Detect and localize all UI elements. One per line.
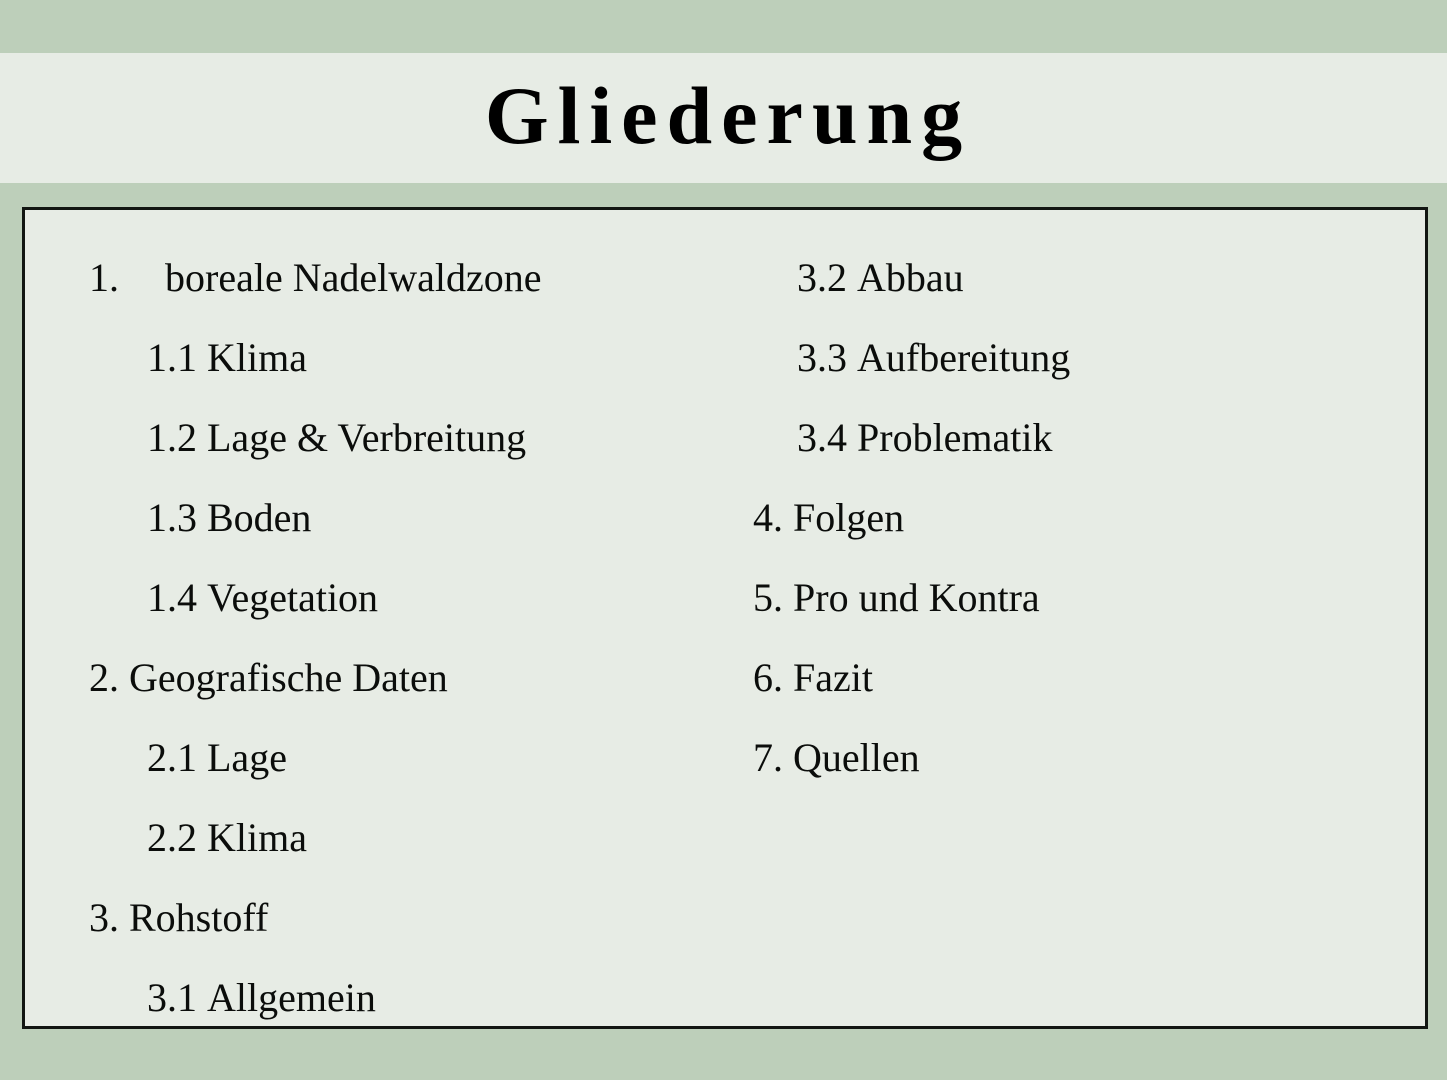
outline-item-label: Pro und Kontra: [793, 578, 1040, 618]
outline-item-space: [783, 498, 793, 538]
outline-columns: 1.boreale Nadelwaldzone1.1 Klima1.2 Lage…: [25, 210, 1425, 1026]
outline-item-space: [197, 578, 207, 618]
outline-item-number: 1.4: [147, 578, 197, 618]
outline-item-number: 3.1: [147, 978, 197, 1018]
outline-item: 3.4 Problematik: [725, 398, 1425, 478]
outline-item: 3.2 Abbau: [725, 238, 1425, 318]
outline-item: 7. Quellen: [725, 718, 1425, 798]
outline-column-right: 3.2 Abbau3.3 Aufbereitung3.4 Problematik…: [725, 238, 1425, 798]
outline-item: 1.4 Vegetation: [25, 558, 725, 638]
outline-item-number: 3.4: [797, 418, 847, 458]
outline-item-label: Abbau: [857, 258, 964, 298]
outline-item: 5. Pro und Kontra: [725, 558, 1425, 638]
outline-item-number: 1.1: [147, 338, 197, 378]
outline-item-label: Klima: [207, 338, 307, 378]
outline-content-frame: 1.boreale Nadelwaldzone1.1 Klima1.2 Lage…: [22, 207, 1428, 1029]
outline-item: 1.boreale Nadelwaldzone: [25, 238, 725, 318]
outline-item-space: [197, 338, 207, 378]
outline-item-number: 3.3: [797, 338, 847, 378]
outline-item-space: [197, 818, 207, 858]
outline-item-space: [197, 418, 207, 458]
outline-item-label: Klima: [207, 818, 307, 858]
outline-item: 3.3 Aufbereitung: [725, 318, 1425, 398]
outline-item-label: Aufbereitung: [857, 338, 1070, 378]
outline-item: 6. Fazit: [725, 638, 1425, 718]
outline-item: 2.1 Lage: [25, 718, 725, 798]
outline-item-label: Quellen: [793, 738, 920, 778]
outline-item-number: 6.: [753, 658, 783, 698]
outline-item: 4. Folgen: [725, 478, 1425, 558]
outline-item-label: Lage & Verbreitung: [207, 418, 526, 458]
outline-item-number: 4.: [753, 498, 783, 538]
outline-item-number: 1.3: [147, 498, 197, 538]
outline-item-label: Allgemein: [207, 978, 376, 1018]
outline-item-space: [119, 658, 129, 698]
outline-item-number: 1.2: [147, 418, 197, 458]
outline-item-label: Boden: [207, 498, 311, 538]
outline-item-space: [783, 738, 793, 778]
outline-item-number: 5.: [753, 578, 783, 618]
outline-item-space: [197, 498, 207, 538]
outline-item-label: Geografische Daten: [129, 658, 448, 698]
outline-item: 1.2 Lage & Verbreitung: [25, 398, 725, 478]
outline-item: 2. Geografische Daten: [25, 638, 725, 718]
outline-item-space: [847, 338, 857, 378]
outline-item-label: Vegetation: [207, 578, 378, 618]
outline-item-label: Lage: [207, 738, 287, 778]
outline-item-number: 2.1: [147, 738, 197, 778]
outline-item-space: [783, 658, 793, 698]
slide: Gliederung 1.boreale Nadelwaldzone1.1 Kl…: [0, 0, 1447, 1080]
outline-item-number: 2.2: [147, 818, 197, 858]
outline-item-label: Folgen: [793, 498, 904, 538]
outline-item: 3.1 Allgemein: [25, 958, 725, 1029]
outline-item-space: [783, 578, 793, 618]
outline-item-label: boreale Nadelwaldzone: [165, 258, 541, 298]
outline-item-space: [847, 418, 857, 458]
outline-item-number: 7.: [753, 738, 783, 778]
outline-item: 3. Rohstoff: [25, 878, 725, 958]
page-title: Gliederung: [476, 75, 971, 157]
outline-item-space: [197, 978, 207, 1018]
outline-item-label: Rohstoff: [129, 898, 268, 938]
outline-item: 1.1 Klima: [25, 318, 725, 398]
outline-item-label: Fazit: [793, 658, 873, 698]
outline-item-number: 3.: [89, 898, 119, 938]
outline-item-number: 3.2: [797, 258, 847, 298]
outline-item-space: [847, 258, 857, 298]
outline-item: 2.2 Klima: [25, 798, 725, 878]
outline-item-label: Problematik: [857, 418, 1053, 458]
title-band: Gliederung: [0, 53, 1447, 183]
outline-item-number: 2.: [89, 658, 119, 698]
outline-column-left: 1.boreale Nadelwaldzone1.1 Klima1.2 Lage…: [25, 238, 725, 1029]
outline-item-space: [119, 898, 129, 938]
outline-item-number: 1.: [89, 258, 119, 298]
outline-item-space: [197, 738, 207, 778]
outline-item: 1.3 Boden: [25, 478, 725, 558]
